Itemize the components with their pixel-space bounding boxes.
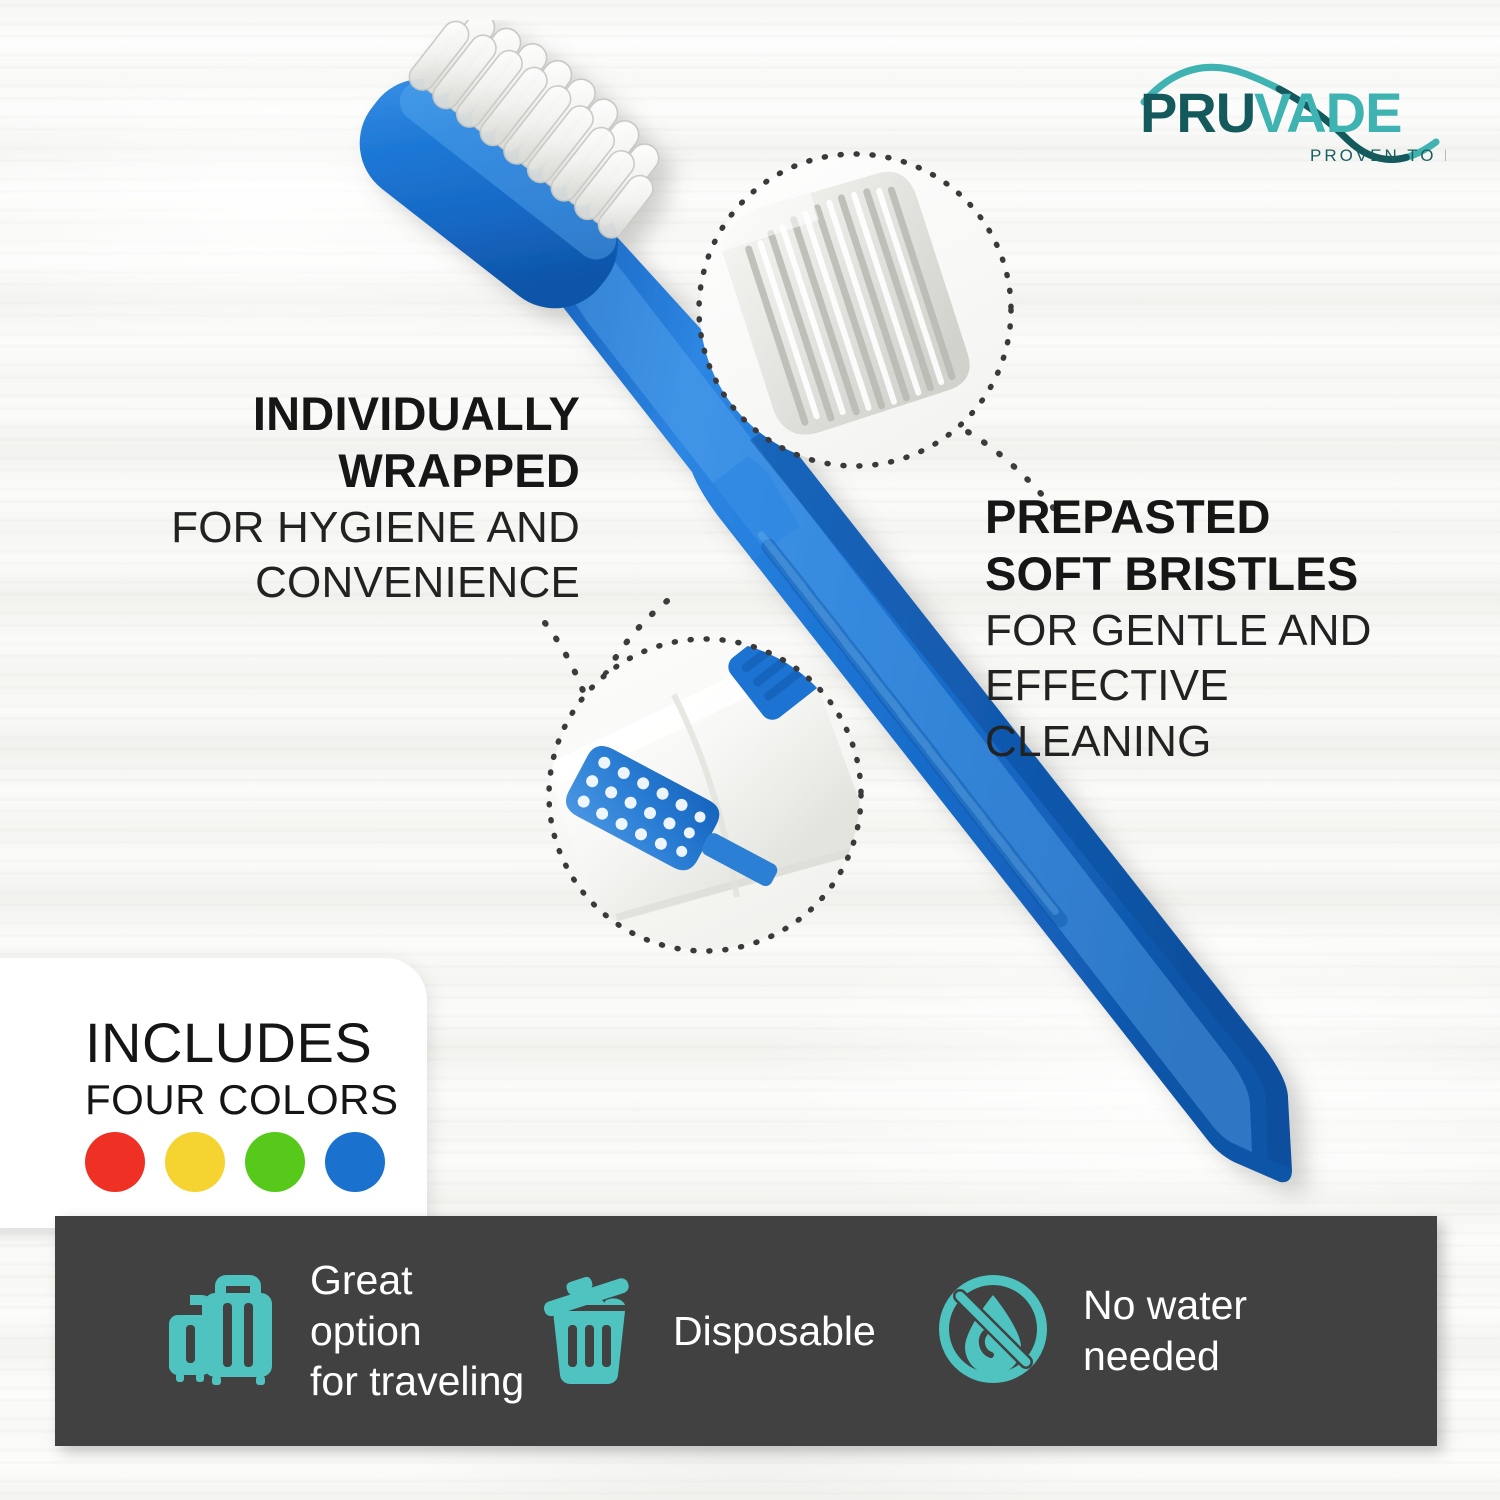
left-headline-line2: WRAPPED [60,442,580,499]
callout-wrapped-closeup [550,640,860,950]
luggage-icon [160,1273,278,1390]
benefit-disposable: Disposable [525,1216,925,1446]
brand-logo: PRU VADE PROVEN TO BE [1136,58,1446,170]
color-swatch-red [85,1132,145,1192]
colors-card-title-line2: FOUR COLORS [85,1076,399,1124]
color-swatch-blue [325,1132,385,1192]
color-swatch-yellow [165,1132,225,1192]
logo-text-pru: PRU [1140,81,1255,144]
callout-bristle-closeup [700,155,1010,465]
right-headline-line1: PREPASTED [985,488,1465,545]
right-headline-line2: SOFT BRISTLES [985,545,1465,602]
left-sub-line1: FOR HYGIENE AND [60,500,580,555]
logo-text-vade: VADE [1254,81,1401,144]
trash-icon [537,1273,641,1390]
benefit-label-no-water: No water needed [1083,1280,1247,1382]
feature-text-individually-wrapped: INDIVIDUALLY WRAPPED FOR HYGIENE AND CON… [60,385,580,611]
color-swatch-list [85,1132,385,1192]
feature-benefits-bar: Great option for traveling [55,1216,1437,1446]
left-sub-line2: CONVENIENCE [60,555,580,610]
colors-card-title-line1: INCLUDES [85,1010,372,1075]
product-infographic: PRU VADE PROVEN TO BE INDIVIDUALLY WRAPP… [0,0,1500,1500]
right-sub-line1: FOR GENTLE AND [985,603,1465,658]
benefit-label-traveling: Great option for traveling [310,1255,525,1407]
includes-four-colors-card: INCLUDES FOUR COLORS [0,958,427,1228]
feature-text-prepasted-soft-bristles: PREPASTED SOFT BRISTLES FOR GENTLE AND E… [985,488,1465,769]
benefit-great-for-traveling: Great option for traveling [55,1216,525,1446]
logo-tagline: PROVEN TO BE [1310,146,1446,165]
benefit-label-disposable: Disposable [673,1306,876,1357]
benefit-no-water-needed: No water needed [925,1216,1365,1446]
right-sub-line2: EFFECTIVE CLEANING [985,658,1465,769]
color-swatch-green [245,1132,305,1192]
left-headline-line1: INDIVIDUALLY [60,385,580,442]
no-water-icon [935,1271,1051,1392]
